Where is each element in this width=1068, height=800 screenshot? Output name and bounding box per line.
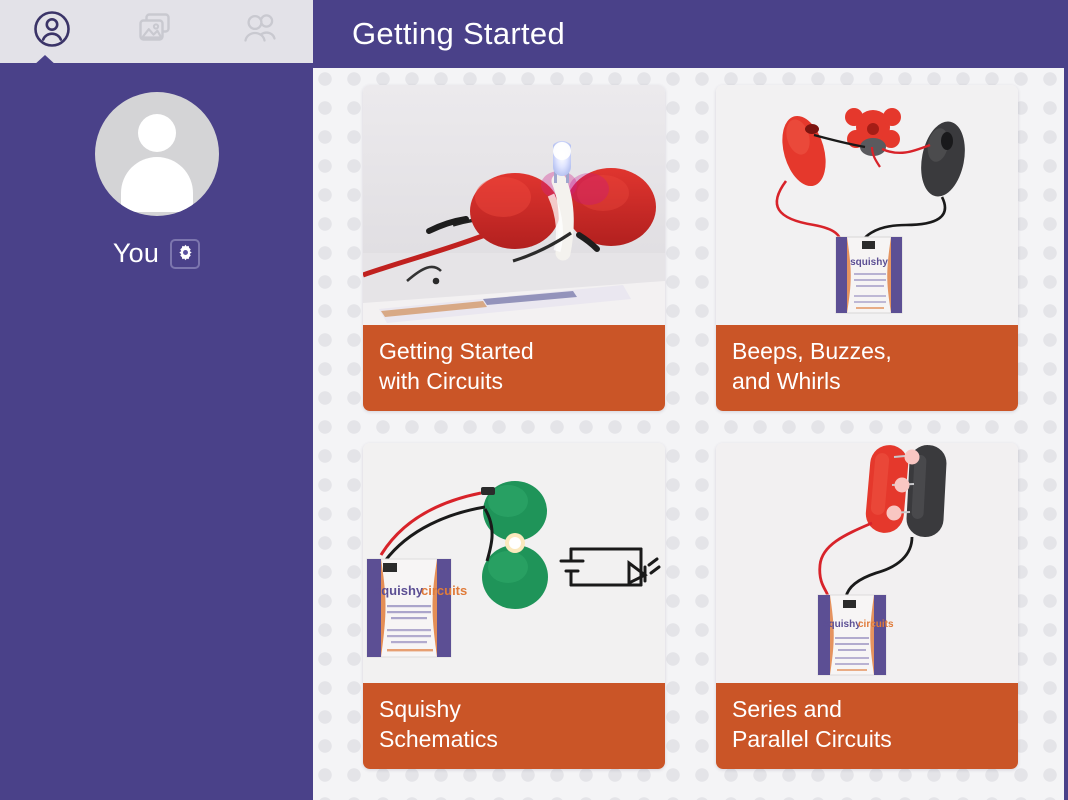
- active-tab-pointer: [33, 55, 57, 66]
- lesson-card[interactable]: squishy circuits: [363, 443, 665, 769]
- profile-name-row: You: [0, 238, 313, 269]
- svg-text:circuits: circuits: [421, 583, 467, 598]
- gallery-images-icon: [136, 11, 176, 52]
- page-header: Getting Started: [313, 0, 1068, 68]
- lesson-title-line1: Getting Started: [379, 338, 534, 364]
- lesson-title-line1: Beeps, Buzzes,: [732, 338, 892, 364]
- lesson-card-caption: Squishy Schematics: [363, 683, 665, 769]
- left-sidebar: You: [0, 0, 313, 800]
- svg-text:circuits: circuits: [858, 619, 894, 630]
- tab-community[interactable]: [209, 0, 313, 63]
- avatar-head: [138, 114, 176, 152]
- lesson-card-caption: Beeps, Buzzes, and Whirls: [716, 325, 1018, 411]
- lesson-photo-series-parallel: squishy circuits: [716, 443, 1018, 683]
- svg-text:squishy: squishy: [374, 583, 424, 598]
- avatar-body: [121, 157, 193, 212]
- profile-name: You: [113, 238, 159, 269]
- lesson-title-line2: Parallel Circuits: [732, 725, 1002, 755]
- tab-gallery[interactable]: [104, 0, 208, 63]
- svg-text:squishy: squishy: [823, 619, 861, 630]
- tab-bar: [0, 0, 313, 63]
- lesson-title-line1: Squishy: [379, 696, 461, 722]
- lesson-card-caption: Series and Parallel Circuits: [716, 683, 1018, 769]
- lesson-title-line2: with Circuits: [379, 367, 649, 397]
- lesson-title-line2: and Whirls: [732, 367, 1002, 397]
- lesson-photo-beeps-buzzes: squishy x: [716, 85, 1018, 325]
- content-area: Getting Started with Circuits: [313, 68, 1068, 800]
- person-circle-icon: [32, 9, 72, 54]
- lesson-title-line1: Series and: [732, 696, 842, 722]
- lesson-card-caption: Getting Started with Circuits: [363, 325, 665, 411]
- avatar[interactable]: [95, 92, 219, 216]
- lesson-card[interactable]: squishy x Beeps, Buzzes, and Whirl: [716, 85, 1018, 411]
- tab-profile[interactable]: [0, 0, 104, 63]
- profile-block: You: [0, 92, 313, 269]
- lesson-title-line2: Schematics: [379, 725, 649, 755]
- lesson-card[interactable]: squishy circuits Series and Parall: [716, 443, 1018, 769]
- lesson-photo-getting-started: [363, 85, 665, 325]
- lesson-card-grid: Getting Started with Circuits: [363, 85, 1018, 769]
- lesson-photo-squishy-schematics: squishy circuits: [363, 443, 665, 683]
- page-title: Getting Started: [352, 16, 565, 52]
- right-edge-strip: [1064, 0, 1068, 800]
- people-group-icon: [239, 11, 283, 52]
- gear-icon: [176, 243, 195, 265]
- settings-button[interactable]: [170, 239, 200, 269]
- app-root: You Getting Started: [0, 0, 1068, 800]
- lesson-card[interactable]: Getting Started with Circuits: [363, 85, 665, 411]
